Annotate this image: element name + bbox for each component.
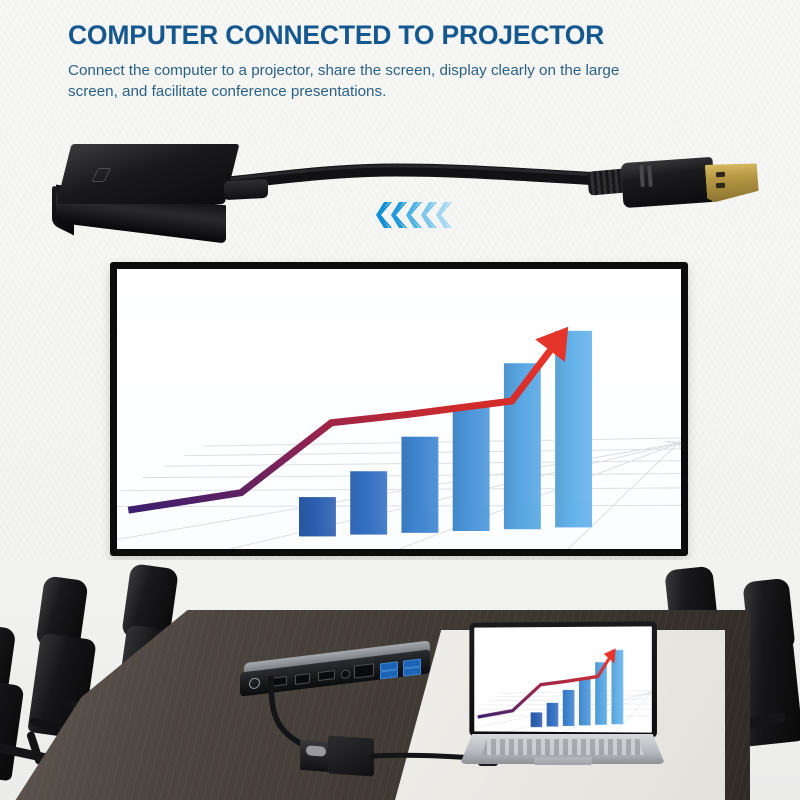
- chevron-left-icon: [421, 202, 437, 228]
- hdmi-pin-1: [716, 172, 725, 178]
- chevron-left-icon: [376, 202, 392, 228]
- projector-screen-surface: [117, 269, 681, 549]
- hdmi-gold-shell: [705, 161, 760, 203]
- usb-a-port-2: [380, 669, 398, 679]
- adapter-body: [328, 735, 374, 776]
- laptop-screen: [474, 626, 652, 732]
- hdmi-male-connector: [588, 150, 793, 230]
- vga-connector-pins: [306, 745, 326, 756]
- product-marketing-image: COMPUTER CONNECTED TO PROJECTOR Connect …: [0, 0, 800, 800]
- laptop-lid: [469, 621, 657, 737]
- hdmi-plug-body: [621, 157, 716, 208]
- bar-3: [563, 690, 575, 726]
- bar-6: [555, 331, 592, 528]
- vga-to-hdmi-adapter: [52, 138, 302, 248]
- laptop-keyboard[interactable]: [482, 739, 644, 755]
- page-subtitle: Connect the computer to a projector, sha…: [68, 60, 648, 103]
- laptop: [460, 622, 670, 782]
- bar-chart: [117, 269, 681, 549]
- chevron-left-icon: [391, 202, 407, 228]
- bar-1: [531, 712, 543, 727]
- hdmi-pin-2: [716, 183, 725, 189]
- chevron-left-icon: [436, 202, 452, 228]
- page-title: COMPUTER CONNECTED TO PROJECTOR: [68, 22, 718, 50]
- square-indicator-icon: [91, 168, 111, 182]
- laptop-trackpad[interactable]: [534, 757, 592, 765]
- adapter-cable-neck: [224, 179, 268, 200]
- chevron-left-icon: [406, 202, 422, 228]
- header-block: COMPUTER CONNECTED TO PROJECTOR Connect …: [68, 22, 718, 103]
- bar-4: [579, 679, 591, 726]
- bar-2: [547, 703, 559, 727]
- usb-a-port-4: [403, 666, 421, 676]
- signal-flow-arrows: [376, 202, 454, 230]
- projector-display: [110, 262, 688, 556]
- laptop-bar-chart: [474, 626, 652, 732]
- adapter-top-face: [57, 144, 240, 204]
